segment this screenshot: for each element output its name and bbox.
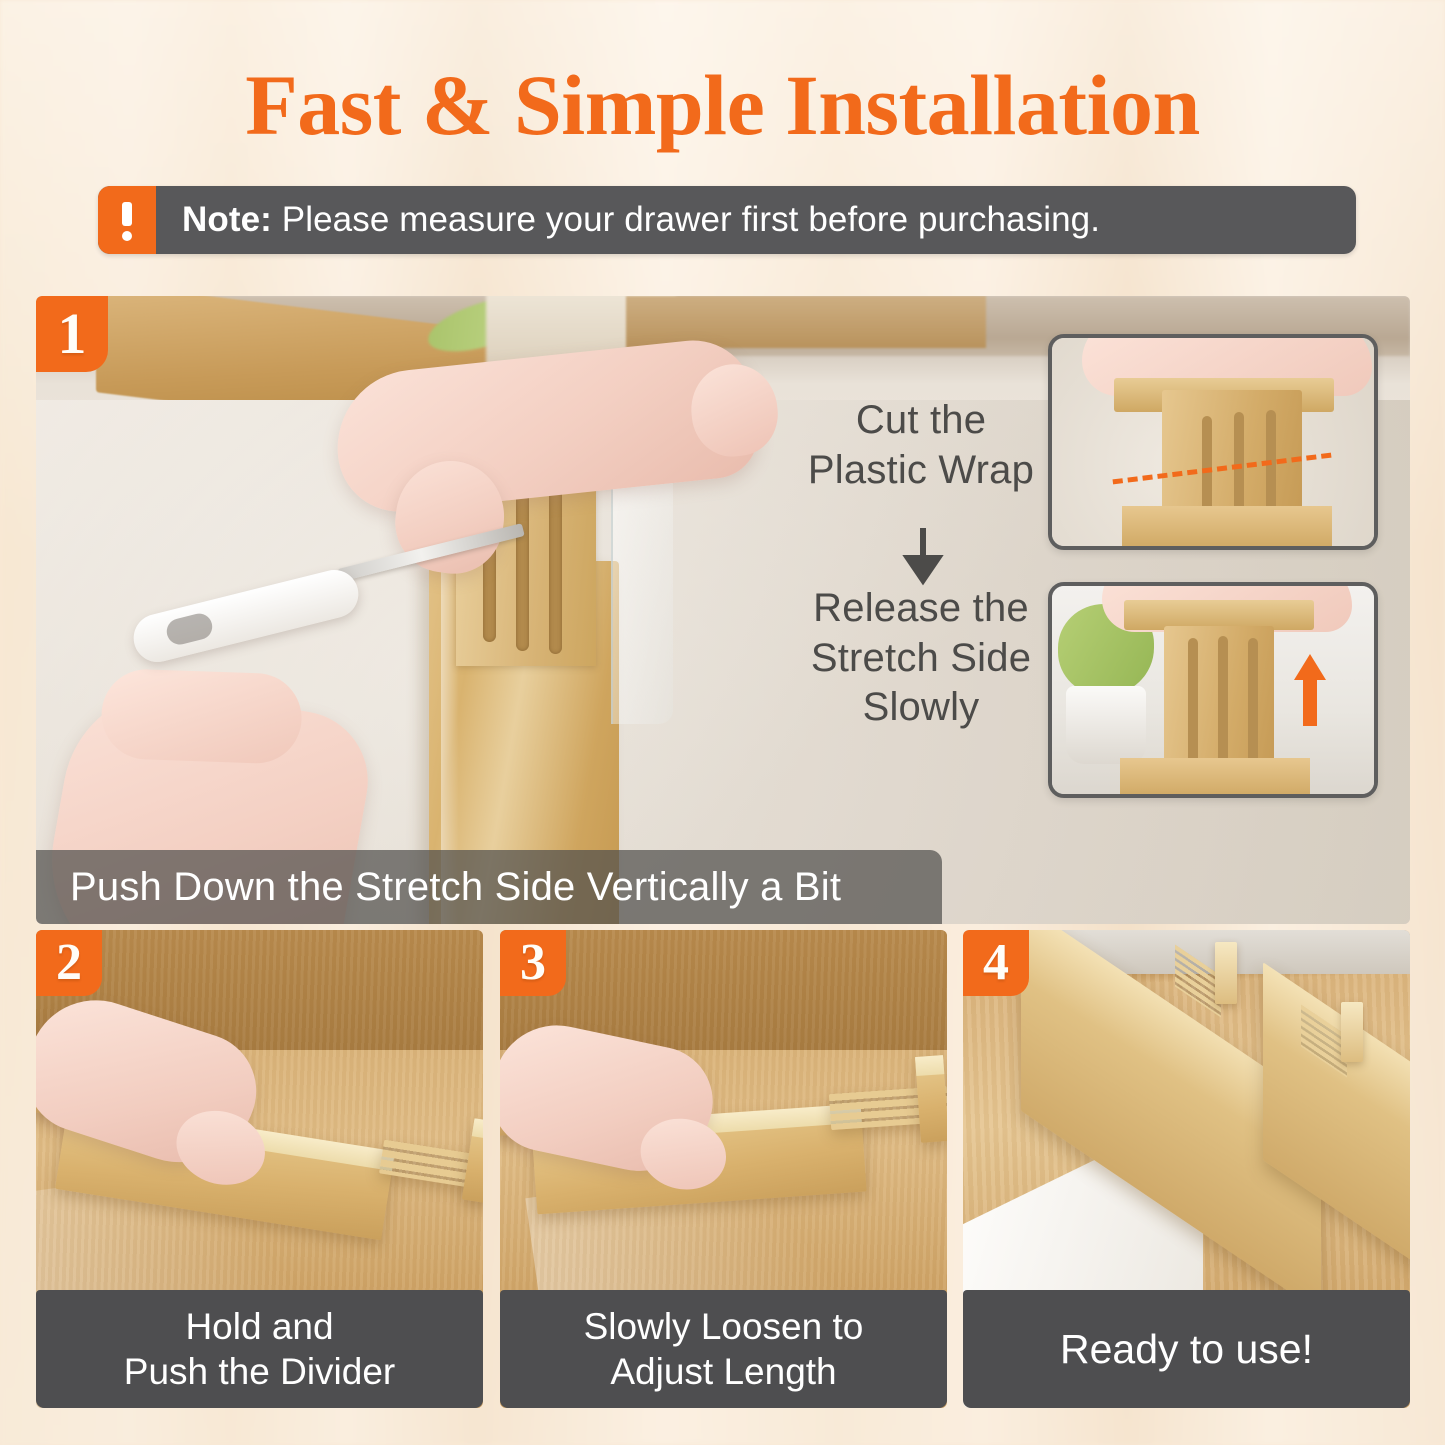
step-panel-3: 3 Slowly Loosen to Adjust Length bbox=[500, 930, 947, 1408]
note-body: Please measure your drawer first before … bbox=[272, 200, 1100, 239]
arrow-down-icon bbox=[902, 528, 944, 591]
step-badge-2: 2 bbox=[36, 930, 102, 996]
cut-plastic-wrap-inset bbox=[1048, 334, 1378, 550]
overlay-release-line-3: Slowly bbox=[742, 683, 1100, 733]
overlay-cut-line-1: Cut the bbox=[742, 396, 1100, 446]
caption-step-2: Hold and Push the Divider bbox=[36, 1290, 483, 1408]
overlay-cut-text: Cut the Plastic Wrap bbox=[742, 396, 1100, 495]
step-panel-1: 1 Cut the Plastic Wrap Release the Stret… bbox=[36, 296, 1410, 924]
caption-step-3: Slowly Loosen to Adjust Length bbox=[500, 1290, 947, 1408]
caption-step-1: Push Down the Stretch Side Vertically a … bbox=[36, 850, 942, 924]
caption-step-3-line-2: Adjust Length bbox=[610, 1349, 836, 1394]
caption-step-3-line-1: Slowly Loosen to bbox=[584, 1304, 864, 1349]
step-badge-4: 4 bbox=[963, 930, 1029, 996]
infographic-page: Fast & Simple Installation Note: Please … bbox=[0, 0, 1445, 1445]
page-title: Fast & Simple Installation bbox=[0, 62, 1445, 148]
overlay-cut-line-2: Plastic Wrap bbox=[742, 446, 1100, 496]
exclamation-icon bbox=[98, 186, 156, 254]
note-bar: Note: Please measure your drawer first b… bbox=[98, 186, 1356, 254]
orange-up-arrow-icon bbox=[1292, 654, 1328, 731]
caption-step-2-line-2: Push the Divider bbox=[124, 1349, 395, 1394]
step-panel-2: 2 Hold and Push the Divider bbox=[36, 930, 483, 1408]
step-badge-1: 1 bbox=[36, 296, 108, 372]
note-text: Note: Please measure your drawer first b… bbox=[156, 200, 1100, 240]
step-badge-3: 3 bbox=[500, 930, 566, 996]
caption-step-2-line-1: Hold and bbox=[185, 1304, 333, 1349]
overlay-release-line-1: Release the bbox=[742, 584, 1100, 634]
overlay-release-text: Release the Stretch Side Slowly bbox=[742, 584, 1100, 733]
caption-step-4: Ready to use! bbox=[963, 1290, 1410, 1408]
overlay-release-line-2: Stretch Side bbox=[742, 634, 1100, 684]
note-prefix: Note: bbox=[182, 200, 272, 239]
release-stretch-side-inset bbox=[1048, 582, 1378, 798]
step-panel-4: 4 Ready to use! bbox=[963, 930, 1410, 1408]
